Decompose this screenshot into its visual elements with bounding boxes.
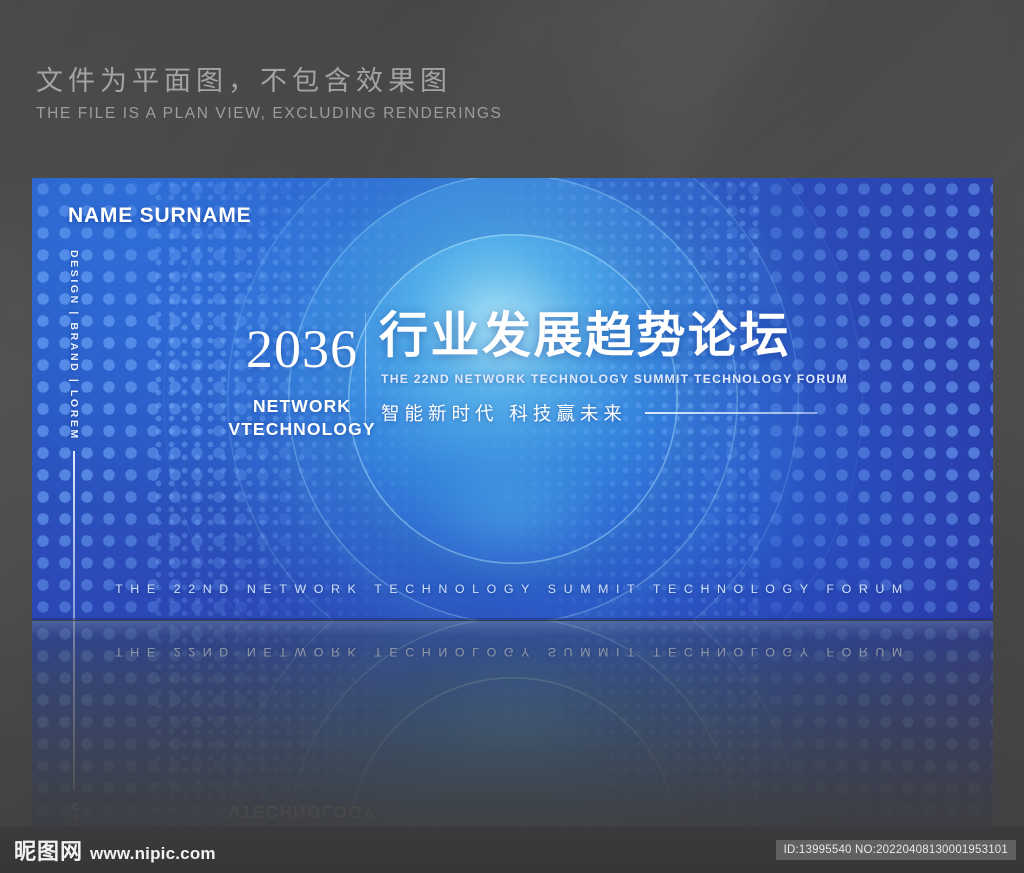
year-label: 2036	[222, 324, 382, 376]
banner-drop-shadow	[32, 618, 993, 623]
vertical-tags-label: DESIGN | BRAND | LOREM	[68, 250, 80, 441]
footer-bar: 昵图网 www.nipic.com ID:13995540 NO:2022040…	[0, 827, 1024, 873]
notice-text-en: THE FILE IS A PLAN VIEW, EXCLUDING RENDE…	[36, 105, 503, 123]
poster-canvas: 文件为平面图，不包含效果图 THE FILE IS A PLAN VIEW, E…	[0, 0, 1024, 873]
watermark-logo-cn: 昵图网	[14, 842, 83, 864]
reflection-sphere-lower-glow	[388, 648, 638, 808]
reflection-bottom-strip: THE 22ND NETWORK TECHNOLOGY SUMMIT TECHN…	[32, 645, 993, 659]
reflection-top-glow	[32, 621, 993, 637]
site-watermark: 昵图网 www.nipic.com	[14, 842, 216, 864]
reflection-dots-right-fine	[463, 621, 763, 846]
reflection-ring-mid	[227, 621, 799, 846]
reflection-dots-right	[633, 621, 993, 846]
banner-background: NAME SURNAME DESIGN | BRAND | LOREM 2036…	[32, 178, 993, 620]
asset-id-badge: ID:13995540 NO:20220408130001953101	[776, 840, 1016, 860]
reflection-sphere	[348, 677, 678, 846]
reflection-dots-left-fine	[152, 621, 452, 846]
reflection-network-2: VTECHNOLOGY	[222, 801, 382, 822]
halftone-dots-right-fine	[463, 178, 763, 620]
network-line-1: NETWORK	[222, 396, 382, 417]
reflection-background: NAME SURNAME DESIGN | BRAND | LOREM 2036…	[32, 621, 993, 846]
reflection-glow-top-left	[32, 663, 492, 846]
reflection-dots-left	[32, 621, 362, 846]
reflection-vertical-tag-group: DESIGN | BRAND | LOREM	[63, 621, 85, 846]
notice-text-cn: 文件为平面图，不包含效果图	[36, 66, 503, 98]
reflection-glow-bottom-right	[353, 621, 993, 846]
vertical-tag-group: DESIGN | BRAND | LOREM	[63, 250, 85, 620]
banner-reflection: NAME SURNAME DESIGN | BRAND | LOREM 2036…	[32, 621, 993, 846]
name-surname-label: NAME SURNAME	[68, 204, 251, 228]
halftone-dots-right	[633, 178, 993, 620]
reflection-fade-overlay	[32, 621, 993, 846]
sphere-lower-glow	[388, 433, 638, 593]
network-line-2: VTECHNOLOGY	[222, 419, 382, 440]
plan-view-notice: 文件为平面图，不包含效果图 THE FILE IS A PLAN VIEW, E…	[36, 66, 503, 123]
reflection-vertical-rule	[73, 621, 74, 790]
tagline-rule	[645, 412, 817, 413]
center-sphere	[348, 234, 678, 564]
watermark-url: www.nipic.com	[90, 845, 216, 864]
subtitle-en: THE 22ND NETWORK TECHNOLOGY SUMMIT TECHN…	[381, 372, 848, 386]
conference-banner: NAME SURNAME DESIGN | BRAND | LOREM 2036…	[32, 178, 993, 620]
banner-bottom-strip: THE 22ND NETWORK TECHNOLOGY SUMMIT TECHN…	[32, 582, 993, 596]
headline-divider	[365, 313, 366, 425]
tagline-row: 智能新时代 科技赢未来	[381, 400, 817, 426]
headline-cn: 行业发展趋势论坛	[379, 310, 791, 362]
reflection-ring-outer	[163, 621, 863, 846]
tagline-cn: 智能新时代 科技赢未来	[381, 400, 627, 426]
reflection-ring-inner	[288, 621, 738, 846]
year-brand-block: 2036 NETWORK VTECHNOLOGY	[222, 324, 382, 440]
